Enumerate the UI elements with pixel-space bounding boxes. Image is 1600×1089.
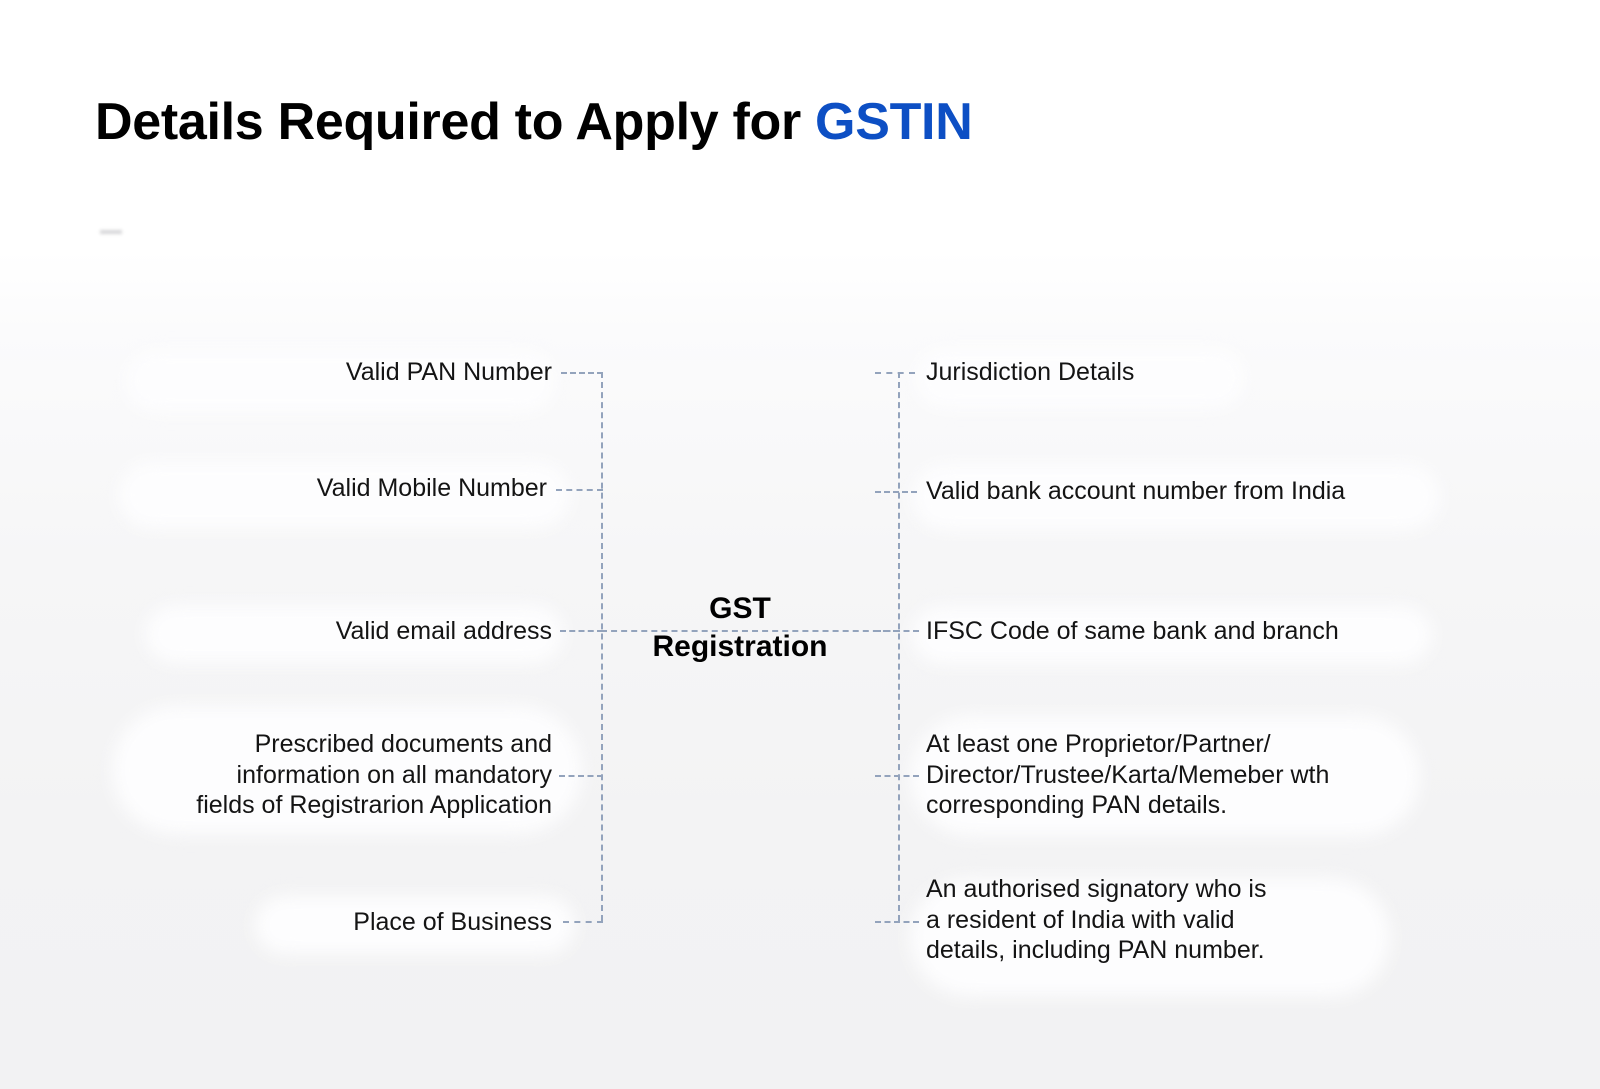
- connector-branch-left-1: [561, 372, 603, 374]
- page-title: Details Required to Apply for GSTIN: [95, 95, 972, 150]
- connector-branch-left-5: [563, 921, 603, 923]
- left-item-valid-mobile-number[interactable]: Valid Mobile Number: [150, 473, 547, 504]
- right-item-valid-bank-account[interactable]: Valid bank account number from India: [926, 476, 1466, 507]
- right-item-label-line1: An authorised signatory who is: [926, 874, 1446, 905]
- left-item-label: Place of Business: [353, 908, 552, 936]
- right-item-label-line1: At least one Proprietor/Partner/: [926, 729, 1446, 760]
- page-title-prefix: Details Required to Apply for: [95, 93, 815, 151]
- center-node-gst-registration[interactable]: GST Registration: [605, 590, 875, 666]
- right-item-label: Valid bank account number from India: [926, 477, 1345, 505]
- right-item-label: Jurisdiction Details: [926, 358, 1134, 386]
- left-item-place-of-business[interactable]: Place of Business: [200, 907, 552, 938]
- right-item-label-line3: details, including PAN number.: [926, 935, 1446, 966]
- connector-branch-left-2: [556, 489, 603, 491]
- right-item-proprietor-partner[interactable]: At least one Proprietor/Partner/ Directo…: [926, 729, 1446, 821]
- left-item-label-line1: Prescribed documents and: [118, 729, 552, 760]
- center-node-line2: Registration: [605, 628, 875, 666]
- connector-branch-left-4: [559, 775, 603, 777]
- center-node-line1: GST: [605, 590, 875, 628]
- right-item-label: IFSC Code of same bank and branch: [926, 617, 1339, 645]
- connector-branch-right-1: [875, 372, 915, 374]
- connector-branch-right-5: [875, 921, 919, 923]
- left-item-valid-email-address[interactable]: Valid email address: [160, 616, 552, 647]
- right-item-jurisdiction-details[interactable]: Jurisdiction Details: [926, 357, 1446, 388]
- connector-trunk-left: [601, 372, 603, 921]
- left-item-label-line2: information on all mandatory: [118, 760, 552, 791]
- left-item-label-line3: fields of Registrarion Application: [118, 790, 552, 821]
- left-item-valid-pan-number[interactable]: Valid PAN Number: [160, 357, 552, 388]
- connector-branch-right-2: [875, 491, 917, 493]
- connector-branch-left-3: [560, 630, 603, 632]
- left-item-label: Valid Mobile Number: [317, 474, 547, 502]
- right-item-authorised-signatory[interactable]: An authorised signatory who is a residen…: [926, 874, 1446, 966]
- right-item-label-line2: Director/Trustee/Karta/Memeber wth: [926, 760, 1446, 791]
- connector-branch-right-4: [875, 775, 919, 777]
- right-item-label-line2: a resident of India with valid: [926, 905, 1446, 936]
- right-item-ifsc-code[interactable]: IFSC Code of same bank and branch: [926, 616, 1466, 647]
- left-item-label: Valid PAN Number: [346, 358, 552, 386]
- connector-branch-right-3: [875, 630, 919, 632]
- connector-trunk-right: [898, 372, 900, 921]
- left-item-label: Valid email address: [336, 617, 552, 645]
- left-item-prescribed-documents[interactable]: Prescribed documents and information on …: [118, 729, 552, 821]
- page-title-accent: GSTIN: [815, 93, 972, 151]
- right-item-label-line3: corresponding PAN details.: [926, 790, 1446, 821]
